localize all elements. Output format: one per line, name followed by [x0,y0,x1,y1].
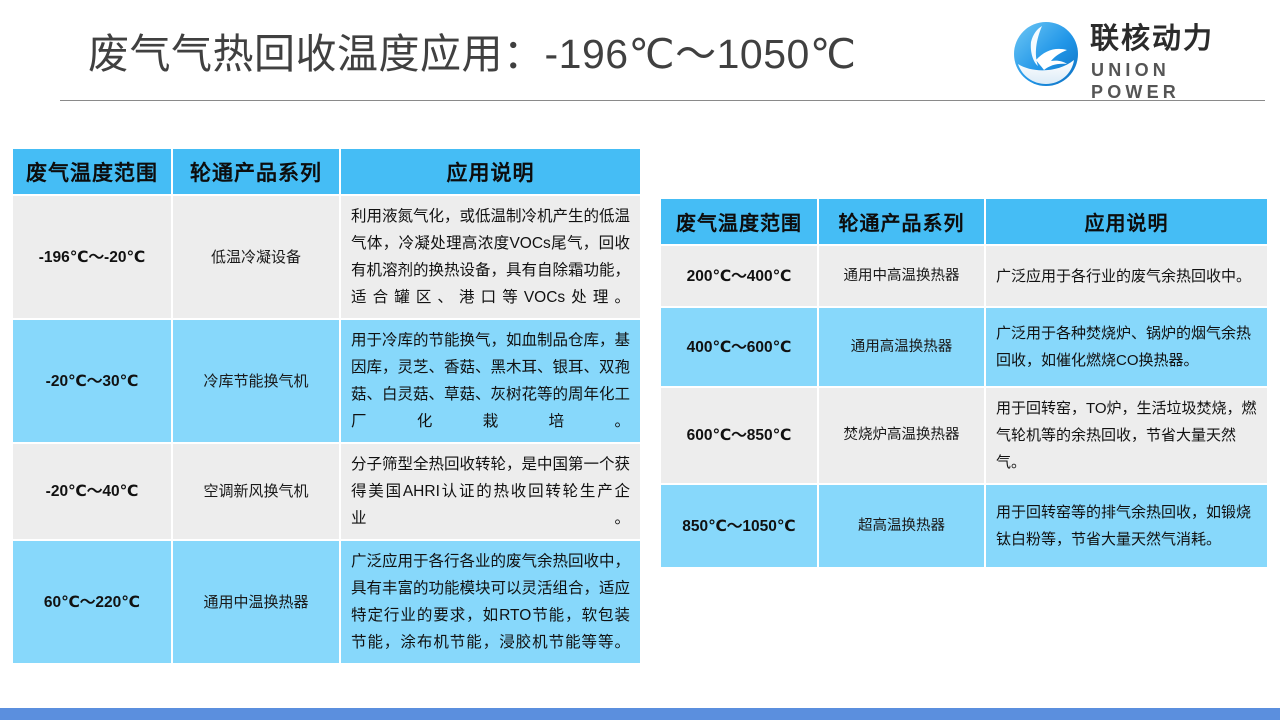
table-right-body: 200℃～400℃ 通用中高温换热器 广泛应用于各行业的废气余热回收中。 400… [660,245,1268,568]
table-left-body: -196℃～-20℃ 低温冷凝设备 利用液氮气化，或低温制冷机产生的低温气体，冷… [12,195,641,664]
table-row: -20℃～40℃ 空调新风换气机 分子筛型全热回收转轮，是中国第一个获得美国AH… [12,443,641,540]
table-row: 850℃～1050℃ 超高温换热器 用于回转窑等的排气余热回收，如锻烧钛白粉等，… [660,484,1268,568]
header-temp-range: 废气温度范围 [660,198,818,245]
cell-temp-range: -20℃～30℃ [12,319,172,443]
cell-temp-range: 200℃～400℃ [660,245,818,307]
cell-temp-range: -20℃～40℃ [12,443,172,540]
union-power-globe-icon [1012,20,1080,88]
table-header-row: 废气温度范围 轮通产品系列 应用说明 [12,148,641,195]
cell-product: 低温冷凝设备 [172,195,340,319]
cell-temp-range: 850℃～1050℃ [660,484,818,568]
slide-root: 废气气热回收温度应用：-196℃～1050℃ [0,0,1280,720]
bottom-accent-bar [0,708,1280,720]
header-product-series: 轮通产品系列 [172,148,340,195]
cell-description: 广泛应用于各行业的废气余热回收中。 [985,245,1268,307]
header-application-note: 应用说明 [340,148,641,195]
logo-english-name: UNION POWER [1091,59,1268,103]
cell-temp-range: 60℃～220℃ [12,540,172,664]
title-divider [60,100,1265,101]
header-application-note: 应用说明 [985,198,1268,245]
header-temp-range: 废气温度范围 [12,148,172,195]
cell-temp-range: 600℃～850℃ [660,387,818,484]
cell-description: 广泛用于各种焚烧炉、锅炉的烟气余热回收，如催化燃烧CO换热器。 [985,307,1268,387]
cell-description: 利用液氮气化，或低温制冷机产生的低温气体，冷凝处理高浓度VOCs尾气，回收有机溶… [340,195,641,319]
cell-product: 通用中高温换热器 [818,245,985,307]
logo-chinese-name: 联核动力 [1090,22,1214,56]
cell-description: 用于回转窑等的排气余热回收，如锻烧钛白粉等，节省大量天然气消耗。 [985,484,1268,568]
cell-product: 通用中温换热器 [172,540,340,664]
cell-description: 广泛应用于各行各业的废气余热回收中，具有丰富的功能模块可以灵活组合，适应特定行业… [340,540,641,664]
table-row: 600℃～850℃ 焚烧炉高温换热器 用于回转窑，TO炉，生活垃圾焚烧，燃气轮机… [660,387,1268,484]
table-row: -196℃～-20℃ 低温冷凝设备 利用液氮气化，或低温制冷机产生的低温气体，冷… [12,195,641,319]
table-header-row: 废气温度范围 轮通产品系列 应用说明 [660,198,1268,245]
high-temperature-table: 废气温度范围 轮通产品系列 应用说明 200℃～400℃ 通用中高温换热器 广泛… [660,198,1268,568]
cell-description: 用于冷库的节能换气，如血制品仓库，基因库，灵芝、香菇、黑木耳、银耳、双孢菇、白灵… [340,319,641,443]
low-temperature-table: 废气温度范围 轮通产品系列 应用说明 -196℃～-20℃ 低温冷凝设备 利用液… [12,148,641,664]
table-row: -20℃～30℃ 冷库节能换气机 用于冷库的节能换气，如血制品仓库，基因库，灵芝… [12,319,641,443]
cell-product: 冷库节能换气机 [172,319,340,443]
company-logo: 联核动力 UNION POWER [1012,18,1268,90]
cell-product: 空调新风换气机 [172,443,340,540]
cell-temp-range: -196℃～-20℃ [12,195,172,319]
cell-description: 分子筛型全热回收转轮，是中国第一个获得美国AHRI认证的热收回转轮生产企业。 [340,443,641,540]
table-row: 200℃～400℃ 通用中高温换热器 广泛应用于各行业的废气余热回收中。 [660,245,1268,307]
cell-product: 焚烧炉高温换热器 [818,387,985,484]
page-title: 废气气热回收温度应用：-196℃～1050℃ [88,24,856,84]
header-product-series: 轮通产品系列 [818,198,985,245]
table-row: 400℃～600℃ 通用高温换热器 广泛用于各种焚烧炉、锅炉的烟气余热回收，如催… [660,307,1268,387]
cell-description: 用于回转窑，TO炉，生活垃圾焚烧，燃气轮机等的余热回收，节省大量天然气。 [985,387,1268,484]
cell-temp-range: 400℃～600℃ [660,307,818,387]
table-row: 60℃～220℃ 通用中温换热器 广泛应用于各行各业的废气余热回收中，具有丰富的… [12,540,641,664]
cell-product: 超高温换热器 [818,484,985,568]
cell-product: 通用高温换热器 [818,307,985,387]
